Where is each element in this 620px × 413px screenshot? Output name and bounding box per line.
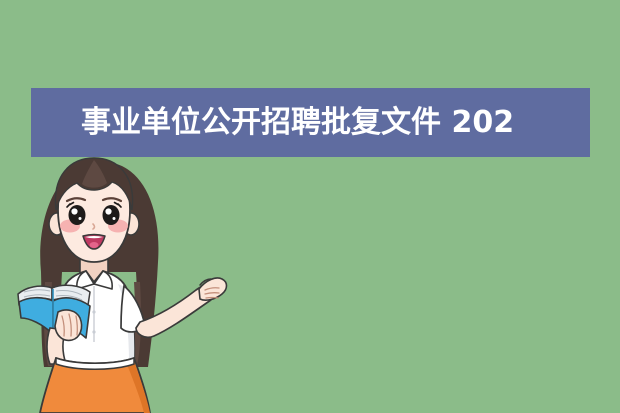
page-title: 事业单位公开招聘批复文件 202 — [81, 105, 514, 141]
shirt-button-bottom — [92, 330, 95, 333]
title-banner: 事业单位公开招聘批复文件 202 — [31, 88, 590, 157]
book-leaf-left — [19, 298, 53, 334]
illustration-cartoon-woman-holding-book — [0, 152, 310, 413]
skirt-group — [40, 358, 150, 413]
article-thumbnail-card: 事业单位公开招聘批复文件 202 — [0, 0, 620, 413]
cartoon-woman-illustration-svg — [0, 152, 310, 413]
tongue — [90, 242, 99, 248]
shirt-button-top — [92, 310, 95, 313]
